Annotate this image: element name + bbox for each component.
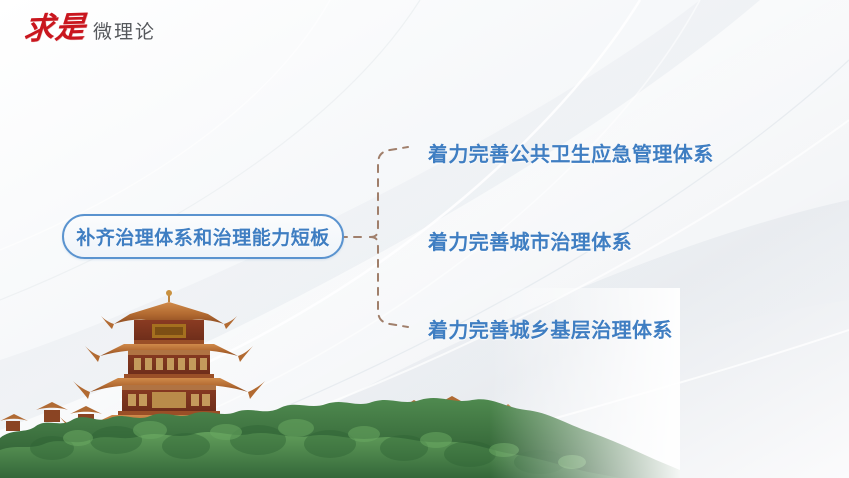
slide-canvas: 求是 微理论 着力完善公共卫生应急管理体系 着力完善城市治理体系 着力完善城乡基…: [0, 0, 849, 478]
branch-item-grassroots-governance[interactable]: 着力完善城乡基层治理体系: [428, 314, 673, 343]
logo-mark-qiushi: 求是: [23, 13, 87, 45]
dashed-brace-connector: [340, 120, 440, 350]
branch-list: 着力完善公共卫生应急管理体系 着力完善城市治理体系 着力完善城乡基层治理体系: [428, 120, 828, 350]
branch-item-public-health[interactable]: 着力完善公共卫生应急管理体系: [428, 138, 714, 167]
root-node-label: 补齐治理体系和治理能力短板: [76, 223, 330, 250]
logo-subtitle: 微理论: [93, 23, 156, 42]
branch-item-urban-governance[interactable]: 着力完善城市治理体系: [428, 226, 632, 255]
brand-logo: 求是 微理论: [24, 14, 156, 44]
root-node-pill[interactable]: 补齐治理体系和治理能力短板: [62, 214, 344, 259]
